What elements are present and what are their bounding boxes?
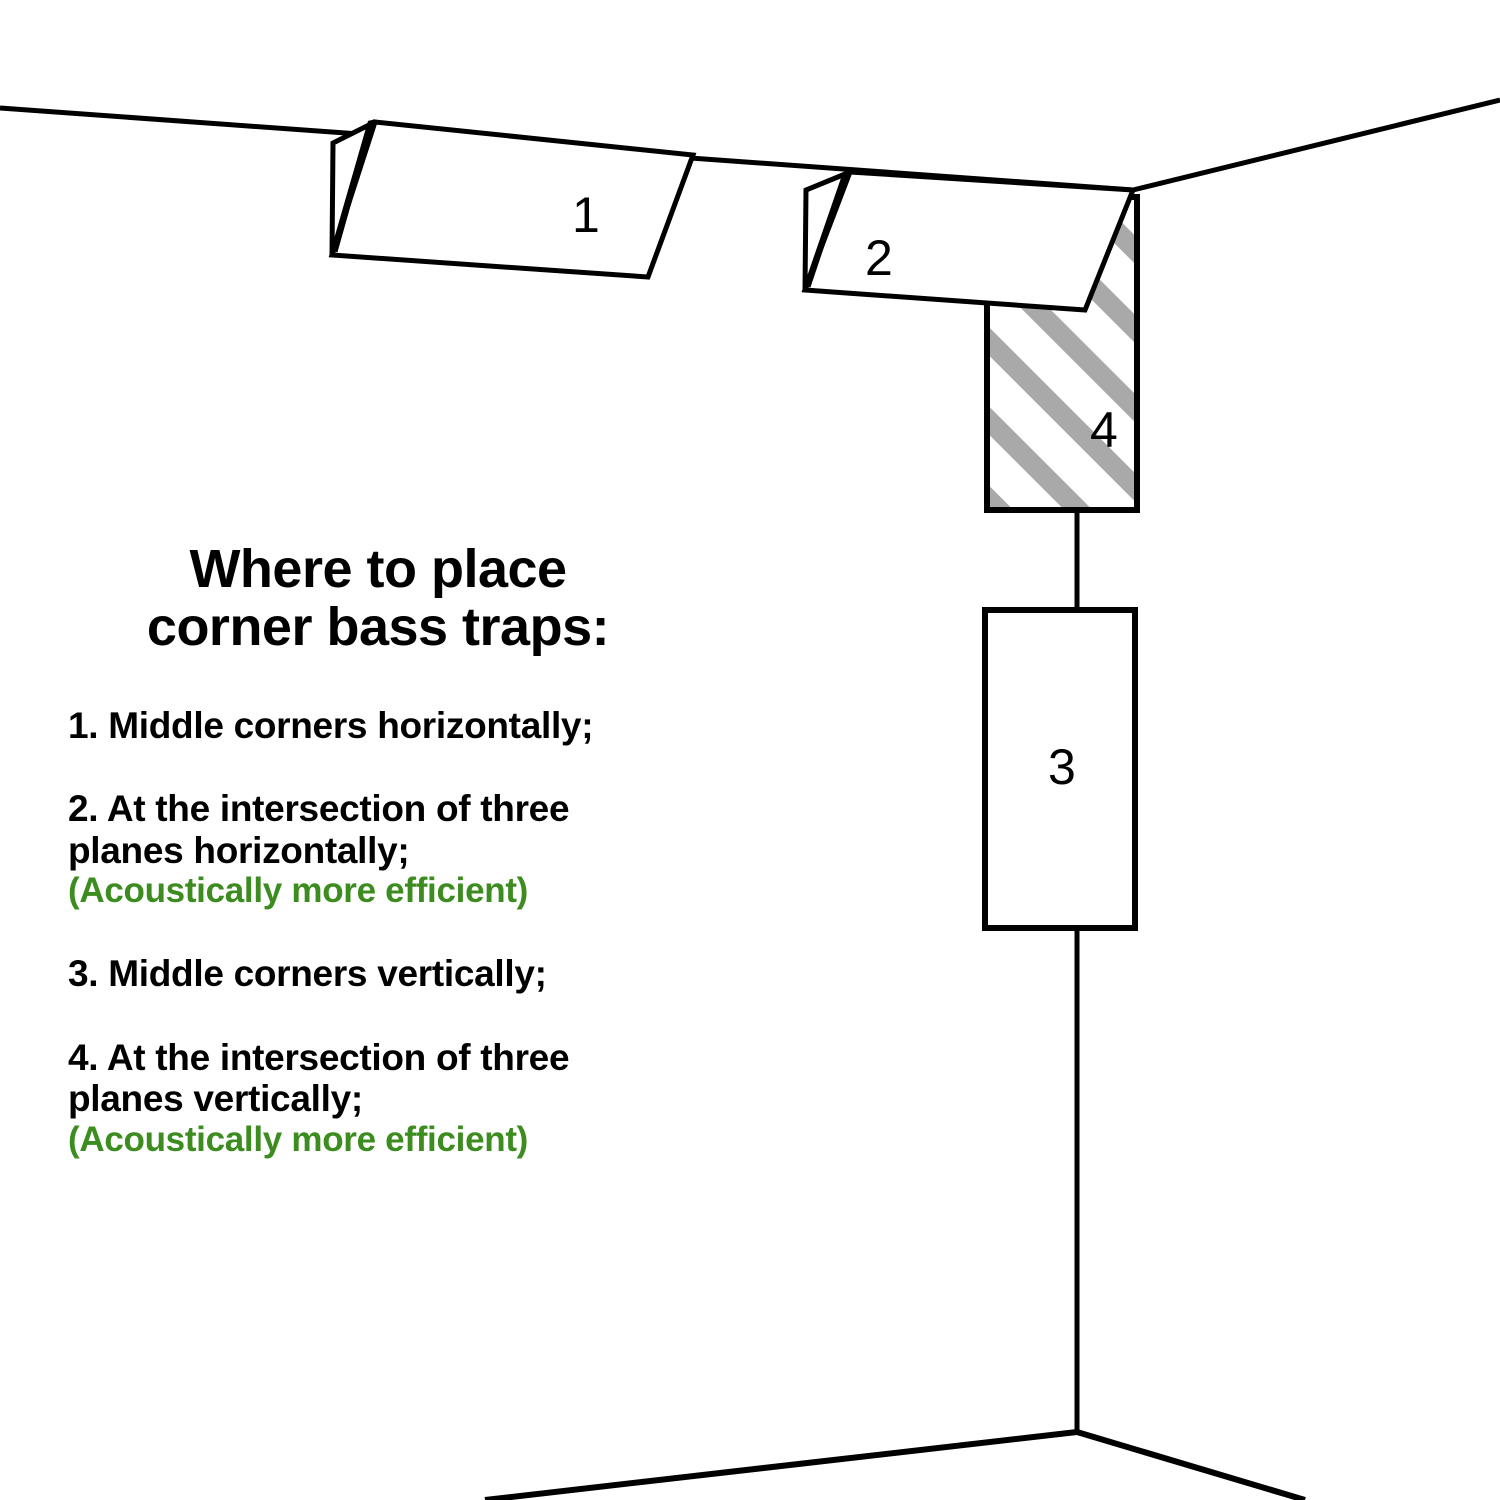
callout-number-2: 2 xyxy=(865,233,893,283)
floor-line-right xyxy=(1077,1432,1305,1500)
page-title-line-1: Where to place xyxy=(68,540,688,598)
list-item-2: 2. At the intersection of three planes h… xyxy=(68,788,808,911)
list-item-4-note: (Acoustically more efficient) xyxy=(68,1120,808,1160)
list-item-2-note: (Acoustically more efficient) xyxy=(68,871,808,911)
callout-number-4: 4 xyxy=(1090,405,1118,455)
floor-line-left xyxy=(485,1432,1077,1500)
list-item-1-text: 1. Middle corners horizontally; xyxy=(68,705,593,746)
instruction-text-block: Where to place corner bass traps: 1. Mid… xyxy=(68,540,808,1160)
callout-number-3: 3 xyxy=(1048,742,1076,792)
callout-number-1: 1 xyxy=(572,190,600,240)
trap-2-face xyxy=(805,172,1133,310)
diagram-canvas: 1 2 3 4 Where to place corner bass traps… xyxy=(0,0,1500,1500)
trap-1-face xyxy=(332,122,693,277)
page-title: Where to place corner bass traps: xyxy=(68,540,688,657)
list-item-2-line-2: planes horizontally; xyxy=(68,830,409,871)
list-item-3: 3. Middle corners vertically; xyxy=(68,953,808,994)
list-item-1: 1. Middle corners horizontally; xyxy=(68,705,808,746)
page-title-line-2: corner bass traps: xyxy=(68,598,688,656)
bass-trap-2[interactable] xyxy=(805,172,1133,310)
placement-list: 1. Middle corners horizontally; 2. At th… xyxy=(68,705,808,1160)
list-item-4-line-2: planes vertically; xyxy=(68,1078,363,1119)
ceiling-line-right xyxy=(1133,100,1500,190)
list-item-2-line-1: 2. At the intersection of three xyxy=(68,788,569,829)
list-item-3-text: 3. Middle corners vertically; xyxy=(68,953,547,994)
list-item-4-line-1: 4. At the intersection of three xyxy=(68,1037,569,1078)
bass-trap-1[interactable] xyxy=(332,122,693,277)
list-item-4: 4. At the intersection of three planes v… xyxy=(68,1037,808,1160)
